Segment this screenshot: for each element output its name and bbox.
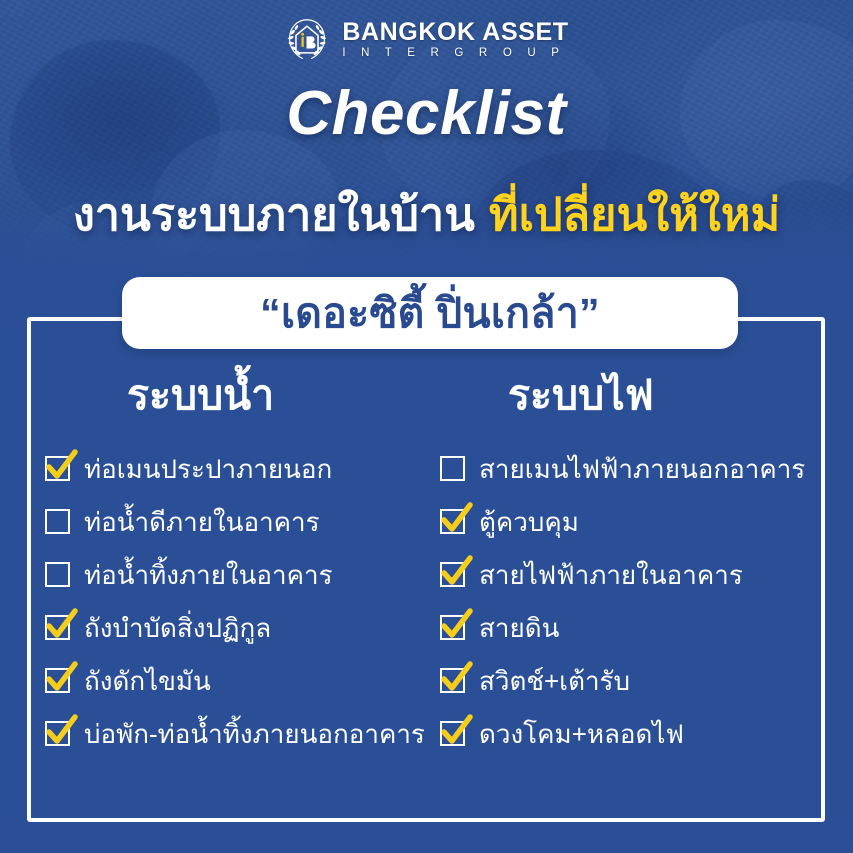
list-item-label: ท่อเมนประปาภายนอก — [84, 456, 332, 482]
checkbox[interactable] — [45, 456, 70, 481]
list-item-label: ท่อน้ำทิ้งภายในอาคาร — [84, 562, 333, 588]
checklist-column-water: ระบบน้ำ ท่อเมนประปาภายนอก ท่อน้ำดีภายในอ… — [27, 317, 426, 822]
checkbox[interactable] — [45, 668, 70, 693]
list-item[interactable]: ถังดักไขมัน — [45, 654, 426, 707]
list-item-label: บ่อพัก-ท่อน้ำทิ้งภายนอกอาคาร — [84, 721, 425, 747]
checklist-column-electrical: ระบบไฟ สายเมนไฟฟ้าภายนอกอาคาร ตู้ควบคุม … — [426, 317, 825, 822]
check-icon — [439, 714, 473, 748]
list-item[interactable]: ท่อเมนประปาภายนอก — [45, 442, 426, 495]
checkbox[interactable] — [440, 562, 465, 587]
checkbox[interactable] — [45, 615, 70, 640]
brand-name: BANGKOK ASSET — [342, 20, 568, 45]
list-item[interactable]: สวิตช์+เต้ารับ — [440, 654, 825, 707]
check-icon — [439, 555, 473, 589]
checklist-items-electrical: สายเมนไฟฟ้าภายนอกอาคาร ตู้ควบคุม สายไฟฟ้… — [440, 442, 825, 760]
checklist-poster: BANGKOK ASSET I N T E R G R O U P Checkl… — [0, 0, 853, 853]
brand-logo-text: BANGKOK ASSET I N T E R G R O U P — [342, 20, 568, 60]
checklist-columns: ระบบน้ำ ท่อเมนประปาภายนอก ท่อน้ำดีภายในอ… — [27, 317, 825, 822]
check-icon — [439, 661, 473, 695]
list-item[interactable]: ถังบำบัดสิ่งปฏิกูล — [45, 601, 426, 654]
checkbox[interactable] — [440, 721, 465, 746]
checkbox[interactable] — [45, 721, 70, 746]
list-item[interactable]: บ่อพัก-ท่อน้ำทิ้งภายนอกอาคาร — [45, 707, 426, 760]
checkbox[interactable] — [440, 615, 465, 640]
check-icon — [44, 714, 78, 748]
check-icon — [44, 449, 78, 483]
column-title-electrical: ระบบไฟ — [440, 375, 825, 416]
check-icon — [44, 661, 78, 695]
list-item-label: สวิตช์+เต้ารับ — [479, 668, 630, 694]
checkbox[interactable] — [45, 562, 70, 587]
subtitle-white-part: งานระบบภายในบ้าน — [73, 189, 475, 240]
list-item-label: สายเมนไฟฟ้าภายนอกอาคาร — [479, 456, 805, 482]
checklist-items-water: ท่อเมนประปาภายนอก ท่อน้ำดีภายในอาคาร ท่อ… — [45, 442, 426, 760]
subtitle: งานระบบภายในบ้านที่เปลี่ยนให้ใหม่ — [0, 178, 853, 250]
checkbox[interactable] — [45, 509, 70, 534]
checkbox[interactable] — [440, 456, 465, 481]
brand-logo: BANGKOK ASSET I N T E R G R O U P — [0, 17, 853, 63]
list-item-label: ถังดักไขมัน — [84, 668, 211, 694]
check-icon — [439, 502, 473, 536]
checkbox[interactable] — [440, 509, 465, 534]
list-item[interactable]: ท่อน้ำดีภายในอาคาร — [45, 495, 426, 548]
list-item[interactable]: สายเมนไฟฟ้าภายนอกอาคาร — [440, 442, 825, 495]
column-title-water: ระบบน้ำ — [45, 375, 426, 416]
list-item-label: สายไฟฟ้าภายในอาคาร — [479, 562, 743, 588]
list-item[interactable]: สายดิน — [440, 601, 825, 654]
check-icon — [44, 608, 78, 642]
project-name-banner: “เดอะซิตี้ ปิ่นเกล้า” — [122, 277, 738, 349]
page-title: Checklist — [0, 78, 853, 149]
list-item[interactable]: ตู้ควบคุม — [440, 495, 825, 548]
check-icon — [439, 608, 473, 642]
list-item-label: ดวงโคม+หลอดไฟ — [479, 721, 684, 747]
wreath-house-emblem-icon — [284, 17, 330, 63]
checkbox[interactable] — [440, 668, 465, 693]
list-item-label: ตู้ควบคุม — [479, 509, 579, 535]
list-item-label: ท่อน้ำดีภายในอาคาร — [84, 509, 320, 535]
brand-tagline: I N T E R G R O U P — [342, 48, 568, 60]
list-item[interactable]: สายไฟฟ้าภายในอาคาร — [440, 548, 825, 601]
subtitle-highlight-part: ที่เปลี่ยนให้ใหม่ — [489, 189, 780, 240]
list-item-label: ถังบำบัดสิ่งปฏิกูล — [84, 615, 271, 641]
list-item[interactable]: ท่อน้ำทิ้งภายในอาคาร — [45, 548, 426, 601]
list-item[interactable]: ดวงโคม+หลอดไฟ — [440, 707, 825, 760]
list-item-label: สายดิน — [479, 615, 559, 641]
project-name: “เดอะซิตี้ ปิ่นเกล้า” — [260, 281, 600, 346]
